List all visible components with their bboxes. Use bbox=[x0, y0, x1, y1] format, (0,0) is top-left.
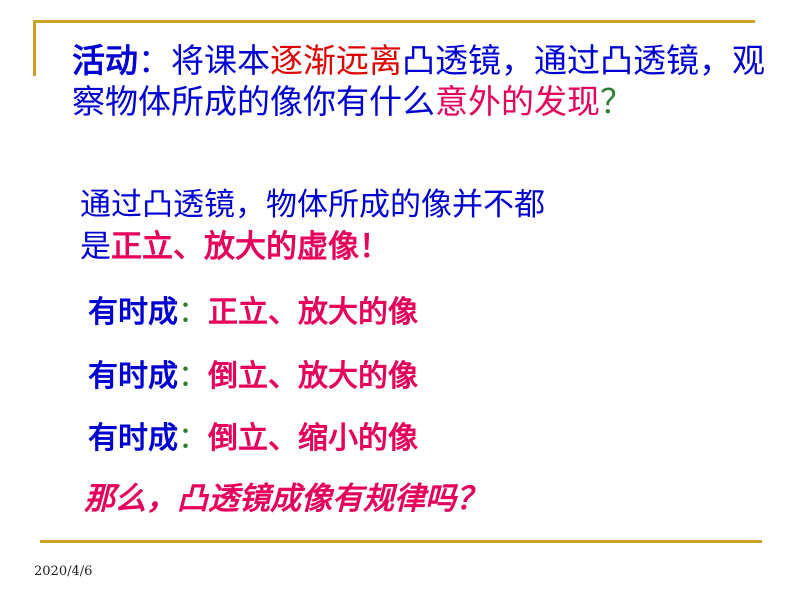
conclusion-row-1-label: 有时成 bbox=[88, 295, 178, 330]
activity-emphasis-red: 逐渐远离 bbox=[270, 41, 402, 80]
conclusion-row-1: 有时成：正立、放大的像 bbox=[88, 298, 418, 328]
conclusion-row-3-colon: ： bbox=[178, 421, 208, 456]
conclusion-row-1-value: 正立、放大的像 bbox=[208, 295, 418, 330]
activity-emphasis-crimson: 意外的发现 bbox=[435, 82, 600, 121]
activity-text-1: 将课本 bbox=[171, 41, 270, 80]
finding-line-2-emphasis: 正立、放大的虚像！ bbox=[111, 229, 390, 265]
conclusion-row-3-label: 有时成 bbox=[88, 421, 178, 456]
conclusion-row-2: 有时成：倒立、放大的像 bbox=[88, 362, 418, 392]
conclusion-row-3: 有时成：倒立、缩小的像 bbox=[88, 424, 418, 454]
slide-canvas: 活动：将课本逐渐远离凸透镜，通过凸透镜，观察物体所成的像你有什么意外的发现？ 通… bbox=[0, 0, 800, 600]
finding-line-1-text: 通过凸透镜，物体所成的像并不都 bbox=[80, 187, 545, 223]
finding-line-1: 通过凸透镜，物体所成的像并不都 bbox=[80, 190, 545, 221]
activity-paragraph: 活动：将课本逐渐远离凸透镜，通过凸透镜，观察物体所成的像你有什么意外的发现？ bbox=[72, 40, 772, 122]
conclusion-row-1-colon: ： bbox=[178, 295, 208, 330]
finding-line-2-prefix: 是 bbox=[80, 229, 111, 265]
activity-question-mark: ？ bbox=[600, 82, 633, 121]
conclusion-row-3-value: 倒立、缩小的像 bbox=[208, 421, 418, 456]
activity-colon: ： bbox=[138, 41, 171, 80]
decorative-rule-bottom bbox=[40, 540, 762, 543]
decorative-rule-left bbox=[33, 20, 36, 76]
decorative-rule-top bbox=[33, 20, 755, 23]
finding-line-2: 是正立、放大的虚像！ bbox=[80, 232, 390, 263]
conclusion-row-2-colon: ： bbox=[178, 359, 208, 394]
conclusion-row-2-value: 倒立、放大的像 bbox=[208, 359, 418, 394]
slide-date: 2020/4/6 bbox=[34, 564, 92, 579]
conclusion-row-2-label: 有时成 bbox=[88, 359, 178, 394]
activity-label: 活动 bbox=[72, 41, 138, 80]
closing-question: 那么，凸透镜成像有规律吗？ bbox=[84, 484, 487, 515]
